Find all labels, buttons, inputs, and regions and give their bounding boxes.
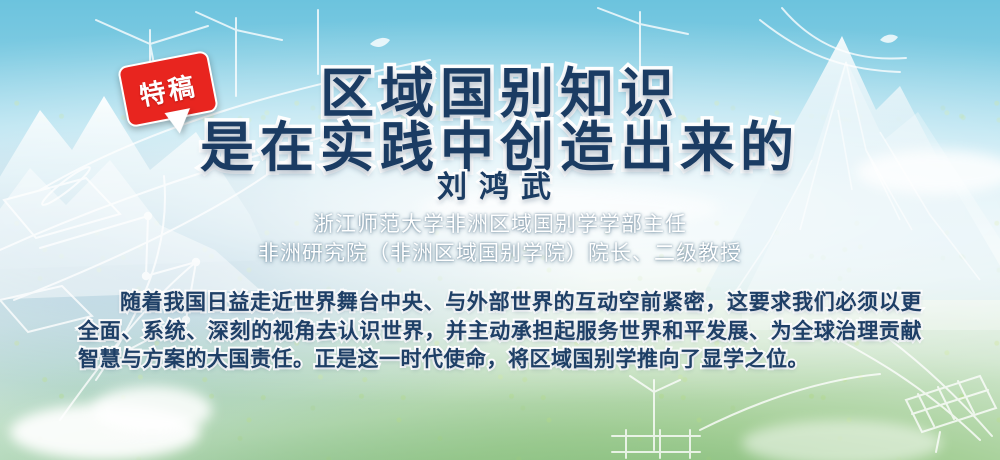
title-line-1: 区域国别知识 — [0, 64, 1000, 124]
cloud-bottom-right — [742, 420, 942, 460]
author-title-line-2: 非洲研究院（非洲区域国别学院）院长、二级教授 — [0, 240, 1000, 267]
cloud-left-bottom2 — [92, 386, 212, 434]
author-title-line-1: 浙江师范大学非洲区域国别学学部主任 — [0, 211, 1000, 238]
lead-paragraph: 随着我国日益走近世界舞台中央、与外部世界的互动空前紧密，这要求我们必须以更全面、… — [78, 288, 922, 374]
author-name: 刘鸿武 — [0, 168, 1000, 208]
feature-banner: 特稿 区域国别知识 是在实践中创造出来的 刘鸿武 浙江师范大学非洲区域国别学学部… — [0, 0, 1000, 460]
